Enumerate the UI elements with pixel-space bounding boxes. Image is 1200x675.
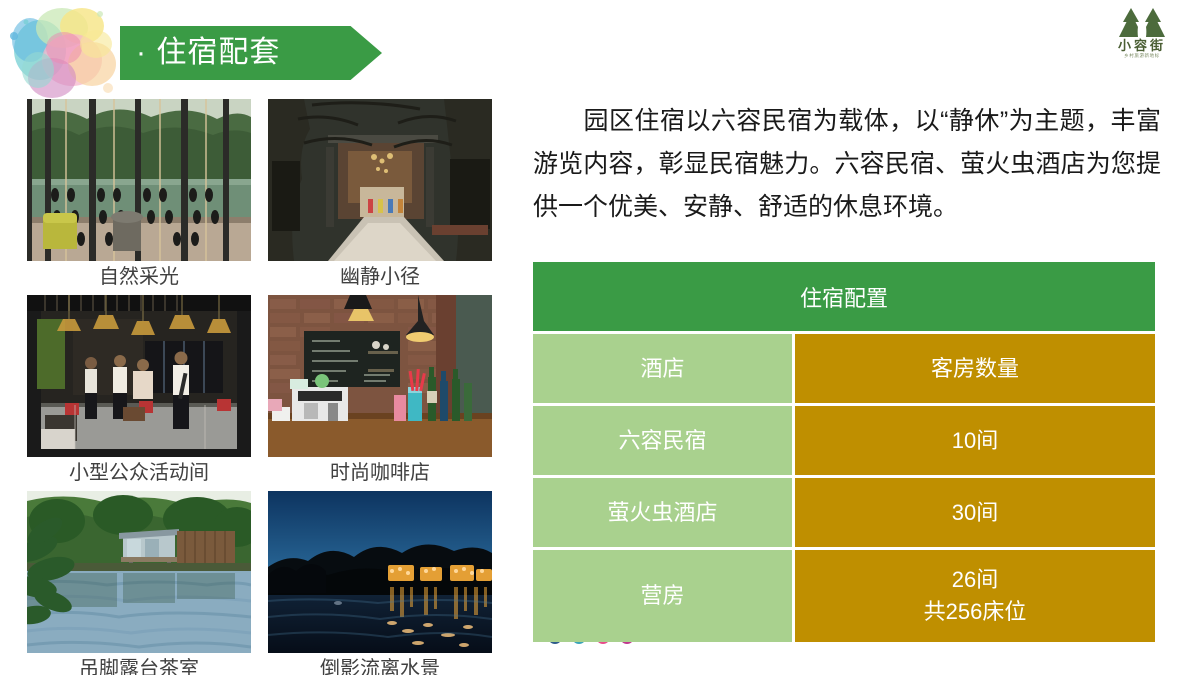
photo-caption: 吊脚露台茶室 (27, 653, 251, 675)
body-paragraph: 园区住宿以六容民宿为载体，以“静休”为主题，丰富游览内容，彰显民宿魅力。六容民宿… (533, 100, 1161, 229)
photo-row-3: 吊脚露台茶室 (27, 491, 493, 675)
logo-subtitle: 乡村旅游新地标 (1124, 54, 1160, 59)
watercolor-splash-decoration (0, 0, 140, 110)
table-cell-rooms-line1: 26间 (952, 564, 998, 596)
table-cell-hotel: 萤火虫酒店 (533, 478, 792, 547)
photo-quiet-path (268, 99, 492, 261)
section-title-banner: · 住宿配套 (120, 26, 382, 80)
photo-caption: 倒影流离水景 (268, 653, 492, 675)
table-cell-rooms-multiline: 26间 共256床位 (795, 550, 1155, 642)
page-title: · 住宿配套 (120, 38, 280, 68)
table-cell-rooms: 10间 (795, 406, 1155, 475)
photo-cell: 幽静小径 (268, 99, 492, 293)
photo-caption: 小型公众活动间 (27, 457, 251, 489)
photo-caption: 时尚咖啡店 (268, 457, 492, 489)
table-header-row: 酒店 客房数量 (533, 334, 1155, 403)
table-col-header-hotel: 酒店 (533, 334, 792, 403)
table-title: 住宿配置 (533, 262, 1155, 331)
brand-logo: 小容街 乡村旅游新地标 (1102, 6, 1182, 64)
pine-trees-icon (1114, 6, 1170, 38)
photo-cell: 自然采光 (27, 99, 251, 293)
table-cell-hotel: 营房 (533, 550, 792, 642)
photo-cell: 时尚咖啡店 (268, 295, 492, 489)
table-row: 六容民宿 10间 (533, 406, 1155, 475)
photo-coffee-shop (268, 295, 492, 457)
photo-cell: 小型公众活动间 (27, 295, 251, 489)
table-cell-rooms: 30间 (795, 478, 1155, 547)
table-row: 营房 26间 共256床位 (533, 550, 1155, 642)
paragraph-text: 园区住宿以六容民宿为载体，以“静休”为主题，丰富游览内容，彰显民宿魅力。六容民宿… (533, 107, 1161, 221)
photo-row-1: 自然采光 (27, 99, 493, 293)
photo-caption: 自然采光 (27, 261, 251, 293)
photo-grid: 自然采光 (27, 99, 493, 675)
slide-root: · 住宿配套 小容街 乡村旅游新地标 (0, 0, 1200, 675)
photo-cell: 倒影流离水景 (268, 491, 492, 675)
photo-terrace-tea-house (27, 491, 251, 653)
photo-public-activity-room (27, 295, 251, 457)
photo-water-reflection-night (268, 491, 492, 653)
table-cell-rooms-line2: 共256床位 (924, 596, 1027, 628)
photo-caption: 幽静小径 (268, 261, 492, 293)
logo-name: 小容街 (1118, 39, 1166, 52)
photo-natural-light (27, 99, 251, 261)
table-cell-hotel: 六容民宿 (533, 406, 792, 475)
photo-row-2: 小型公众活动间 (27, 295, 493, 489)
table-col-header-rooms: 客房数量 (795, 334, 1155, 403)
photo-cell: 吊脚露台茶室 (27, 491, 251, 675)
table-row: 萤火虫酒店 30间 (533, 478, 1155, 547)
accommodation-table: 住宿配置 酒店 客房数量 六容民宿 10间 萤火虫酒店 30间 营房 26间 共… (533, 262, 1155, 642)
